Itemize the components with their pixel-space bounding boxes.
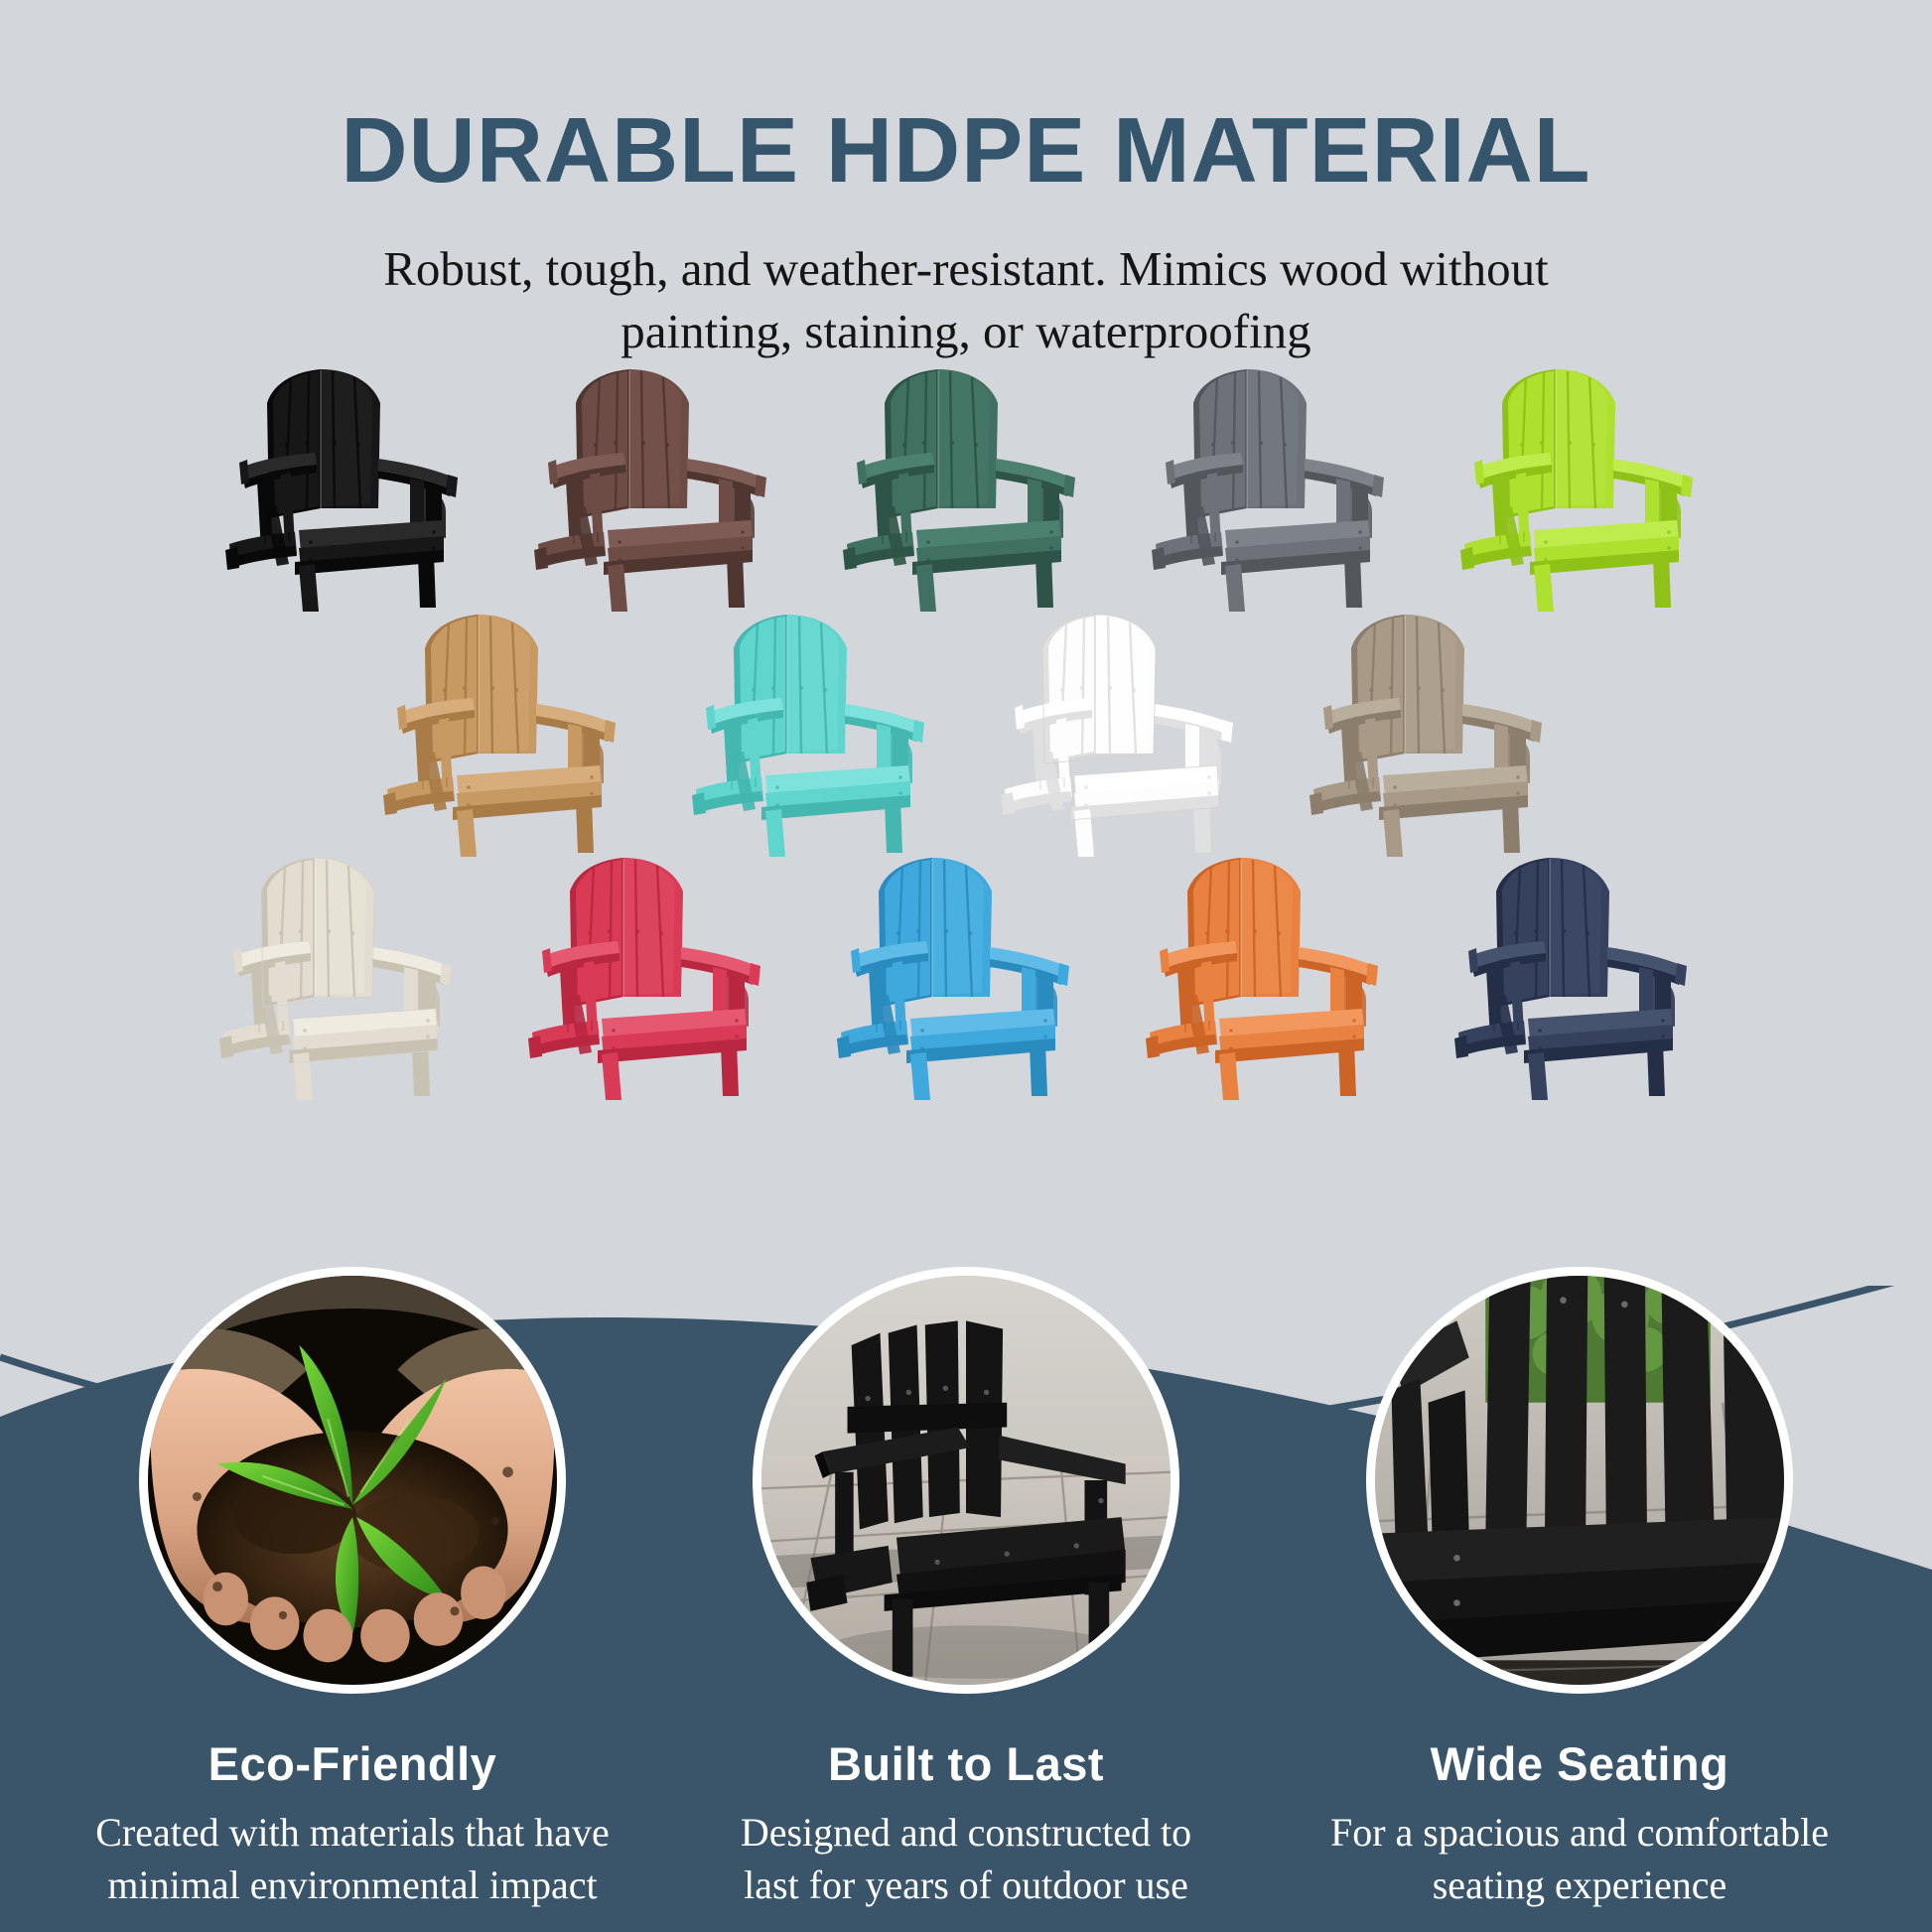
feature-list: Eco-Friendly Created with materials that… (0, 1267, 1932, 1932)
feature-title: Eco-Friendly (87, 1736, 618, 1791)
chair-swatch-turquoise[interactable] (664, 605, 973, 858)
chair-illustration (361, 605, 659, 858)
feature-title: Built to Last (701, 1736, 1231, 1791)
chair-row-3 (0, 848, 1932, 1101)
chair-illustration (815, 848, 1113, 1101)
feature-description-line-2: seating experience (1320, 1860, 1839, 1912)
chair-illustration (1433, 848, 1730, 1101)
subtitle-line-2: painting, staining, or waterproofing (271, 301, 1661, 363)
feature-description-line-1: Designed and constructed to (707, 1807, 1225, 1860)
chair-image (198, 848, 495, 1106)
chair-illustration (506, 848, 804, 1101)
chair-swatch-gray[interactable] (1125, 359, 1434, 613)
chair-image (979, 605, 1277, 863)
chair-swatch-navy-blue[interactable] (1428, 848, 1736, 1101)
chair-swatch-ivory[interactable] (193, 848, 501, 1101)
page-title: DURABLE HDPE MATERIAL (0, 104, 1932, 197)
chair-swatch-blue[interactable] (810, 848, 1119, 1101)
chair-image (815, 848, 1113, 1106)
feature-title: Wide Seating (1314, 1736, 1845, 1791)
chair-image (1288, 605, 1586, 863)
feature-description-line-2: minimal environmental impact (93, 1860, 612, 1912)
chair-swatch-lime-green[interactable] (1434, 359, 1742, 613)
subtitle-line-1: Robust, tough, and weather-resistant. Mi… (271, 238, 1661, 301)
feature-description-line-1: For a spacious and comfortable (1320, 1807, 1839, 1860)
chair-swatch-dark-green[interactable] (816, 359, 1125, 613)
chair-illustration (512, 359, 810, 613)
feature-built-to-last: Built to Last Designed and constructed t… (701, 1267, 1231, 1932)
header: DURABLE HDPE MATERIAL Robust, tough, and… (0, 0, 1932, 362)
page-subtitle: Robust, tough, and weather-resistant. Mi… (271, 238, 1661, 362)
feature-description-line-1: Created with materials that have (93, 1807, 612, 1860)
chair-swatch-orange[interactable] (1119, 848, 1428, 1101)
chair-illustration (204, 359, 501, 613)
chair-row-2 (14, 605, 1932, 858)
chair-illustration (670, 605, 968, 858)
chair-illustration (198, 848, 495, 1101)
feature-description: Created with materials that have minimal… (87, 1807, 618, 1912)
chair-image (821, 359, 1119, 618)
chair-illustration (979, 605, 1277, 858)
chair-swatch-white[interactable] (973, 605, 1282, 858)
chair-image (670, 605, 968, 863)
feature-wide-seating: Wide Seating For a spacious and comforta… (1314, 1267, 1845, 1932)
chair-row-1 (8, 359, 1932, 613)
chair-image (1130, 359, 1428, 618)
chair-swatch-brown[interactable] (507, 359, 816, 613)
feature-eco-friendly: Eco-Friendly Created with materials that… (87, 1267, 618, 1932)
built-to-last-image (753, 1267, 1179, 1694)
chair-image (506, 848, 804, 1106)
black-chair-on-patio-icon (761, 1276, 1171, 1685)
chair-image (1439, 359, 1736, 618)
eco-friendly-image (139, 1267, 566, 1694)
chair-illustration (1124, 848, 1422, 1101)
feature-description: Designed and constructed to last for yea… (701, 1807, 1231, 1912)
wide-seating-image (1366, 1267, 1793, 1694)
chair-swatch-teak[interactable] (355, 605, 664, 858)
hands-holding-seedling-icon (148, 1276, 557, 1685)
chair-illustration (821, 359, 1119, 613)
feature-description: For a spacious and comfortable seating e… (1314, 1807, 1845, 1912)
feature-description-line-2: last for years of outdoor use (707, 1860, 1225, 1912)
chair-image (1433, 848, 1730, 1106)
chair-image (361, 605, 659, 863)
chair-image (512, 359, 810, 618)
closeup-wide-seat-icon (1375, 1276, 1784, 1685)
chair-swatch-black[interactable] (199, 359, 507, 613)
chair-illustration (1130, 359, 1428, 613)
chair-image (204, 359, 501, 618)
chair-illustration (1288, 605, 1586, 858)
chair-swatch-taupe[interactable] (1282, 605, 1590, 858)
chair-image (1124, 848, 1422, 1106)
chair-swatch-red[interactable] (501, 848, 810, 1101)
chair-illustration (1439, 359, 1736, 613)
chair-color-grid (0, 359, 1932, 1101)
